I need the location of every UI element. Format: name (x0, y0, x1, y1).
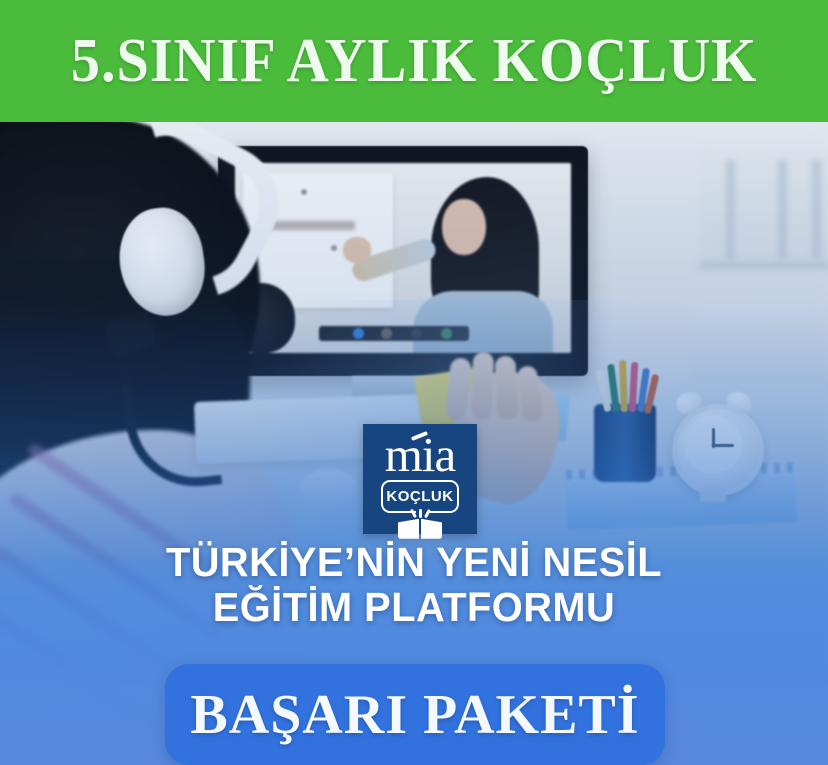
headline: TÜRKİYE’NİN YENİ NESİL EĞİTİM PLATFORMU (0, 540, 828, 630)
whiteboard-dot (331, 245, 337, 251)
open-book-icon (398, 515, 442, 534)
monitor-screen (235, 163, 571, 353)
screen-led-blue (353, 328, 364, 339)
screen-led-dark (411, 328, 422, 339)
shelf-divider (726, 160, 735, 260)
whiteboard-dot (301, 189, 307, 195)
logo-wordmark: mia (385, 430, 455, 479)
shelf-lower (690, 300, 828, 390)
finger (494, 355, 518, 420)
logo-badge: KOÇLUK (381, 480, 459, 513)
shelf-divider (812, 160, 821, 260)
book-ray (419, 509, 422, 518)
promo-poster: 5.SINIF AYLIK KOÇLUK mia KOÇLUK TÜRKİYE’… (0, 0, 828, 765)
teacher-face (442, 199, 486, 255)
screen-led-green (441, 328, 452, 339)
finger (471, 352, 494, 421)
clock-foot (700, 486, 726, 502)
basari-paketi-button[interactable]: BAŞARI PAKETİ (165, 664, 665, 765)
shelf-upper (700, 150, 828, 270)
clock-hand-minute (712, 444, 734, 447)
headline-line-1: TÜRKİYE’NİN YENİ NESİL (12, 540, 815, 585)
teacher-hand (343, 237, 371, 263)
pencil-cup (594, 404, 656, 482)
teacher-body (413, 291, 553, 353)
logo-badge-label: KOÇLUK (386, 488, 453, 505)
mia-logo: mia KOÇLUK (363, 424, 477, 534)
book-page-left (398, 519, 419, 539)
shelf-divider (778, 160, 787, 260)
shelf-edge (700, 262, 828, 269)
mouse (300, 470, 358, 504)
book-page-right (421, 519, 442, 539)
cta-label: BAŞARI PAKETİ (190, 687, 639, 743)
headline-line-2: EĞİTİM PLATFORMU (12, 585, 815, 630)
banner-title: 5.SINIF AYLIK KOÇLUK (71, 30, 757, 92)
top-banner: 5.SINIF AYLIK KOÇLUK (0, 0, 828, 122)
whiteboard-writing (265, 221, 355, 230)
screen-led-brown (381, 328, 392, 339)
